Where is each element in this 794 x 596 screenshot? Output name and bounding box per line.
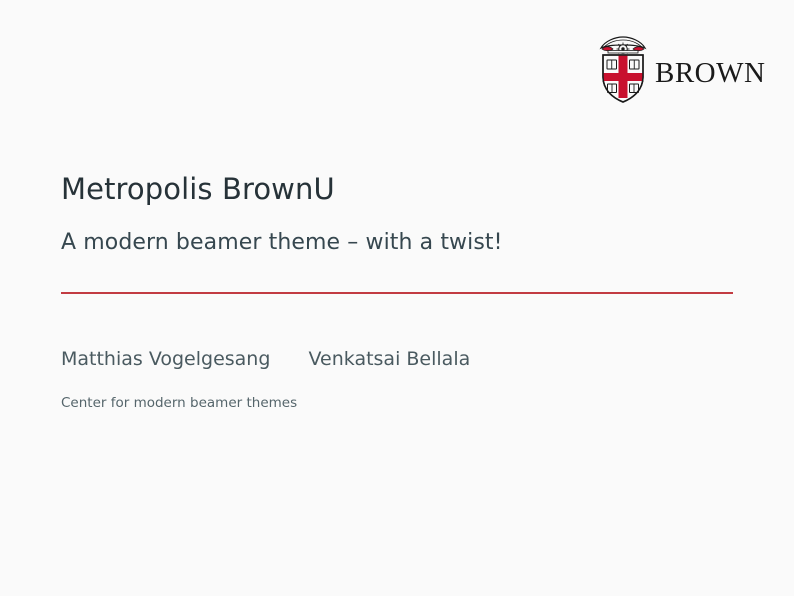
author-list: Matthias Vogelgesang Venkatsai Bellala: [61, 348, 470, 370]
sun-and-clouds-crest-icon: [601, 37, 645, 54]
title-slide: BROWN Metropolis BrownU A modern beamer …: [0, 0, 794, 596]
author-name-2: Venkatsai Bellala: [309, 348, 471, 370]
author-name-1: Matthias Vogelgesang: [61, 348, 270, 370]
brown-university-logo: BROWN: [598, 33, 738, 105]
title-separator-rule: [61, 292, 733, 294]
page-title: Metropolis BrownU: [61, 172, 335, 206]
institute-name: Center for modern beamer themes: [61, 395, 297, 411]
brown-wordmark: BROWN: [655, 50, 765, 88]
brown-university-shield-icon: [598, 34, 648, 104]
page-subtitle: A modern beamer theme – with a twist!: [61, 230, 503, 255]
